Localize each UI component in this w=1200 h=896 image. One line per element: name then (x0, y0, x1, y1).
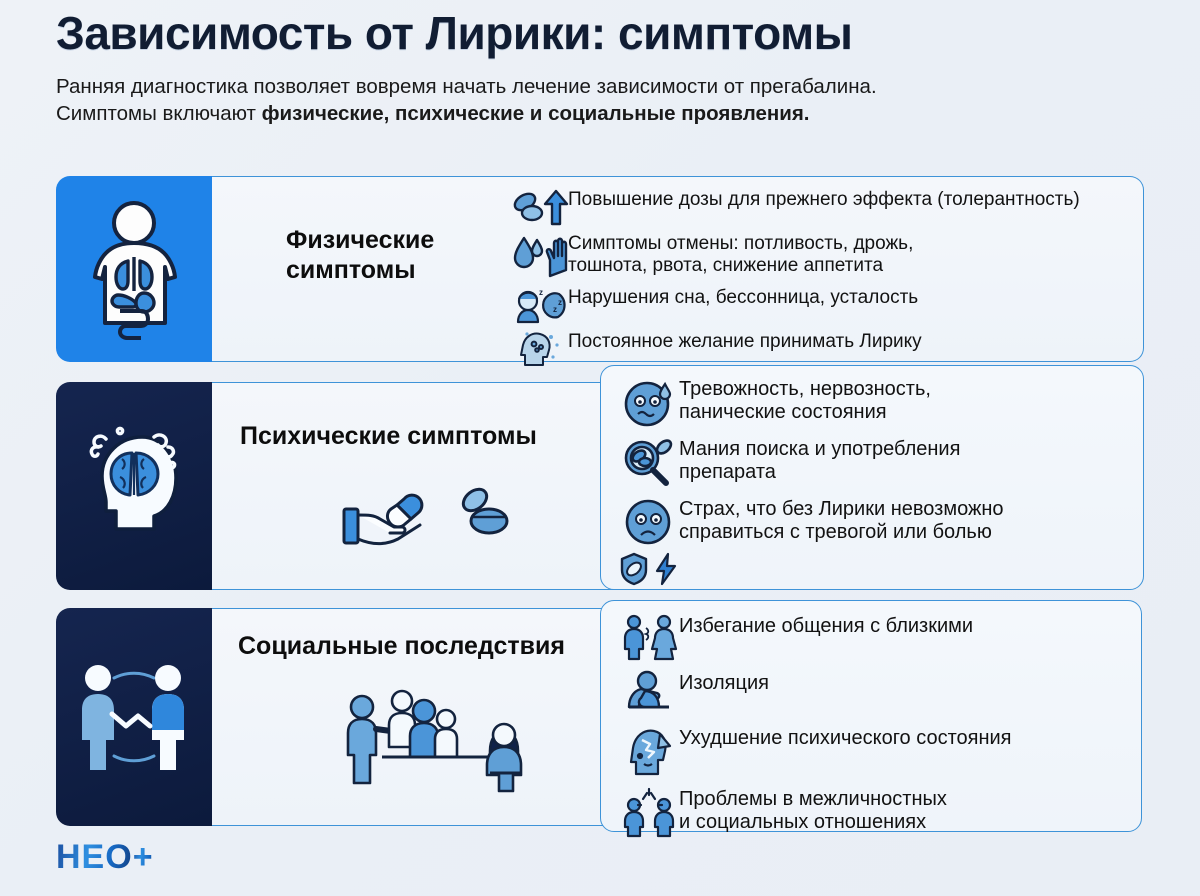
header: Зависимость от Лирики: симптомы Ранняя д… (56, 8, 1156, 128)
list-item: Проблемы в межличностных и социальных от… (619, 786, 1129, 838)
brand-logo: НЕО + (56, 838, 154, 877)
sitting-alone-icon (619, 670, 679, 716)
list-item-text-line-1: Тревожность, нервозность, (679, 378, 931, 400)
list-item-text-line-2: справиться с тревогой или болью (679, 521, 992, 543)
broken-mind-head-icon (619, 725, 679, 777)
list-item-text-line-2: панические состояния (679, 401, 887, 423)
social-bullet-panel: Избегание общения с близкими Изоляция (600, 600, 1142, 832)
list-item-text: Постоянное желание принимать Лирику (568, 329, 922, 353)
head-brain-icon (76, 421, 192, 551)
subtitle-line-2-plain: Симптомы включают (56, 102, 262, 125)
page-title: Зависимость от Лирики: симптомы (56, 8, 1156, 59)
group-of-people-icon (340, 685, 590, 795)
mental-footer-icons (617, 552, 1131, 586)
list-item-text-line-2: и социальных отношениях (679, 811, 926, 833)
physical-panel (56, 176, 212, 362)
craving-head-icon (512, 329, 568, 367)
list-item: Избегание общения с близкими (619, 613, 1129, 661)
physical-title: Физические симптомы (286, 225, 506, 285)
pills-up-arrow-icon (512, 187, 568, 227)
mental-bullet-panel: Тревожность, нервозность, панические сос… (600, 365, 1144, 590)
list-item-text: Страх, что без Лирики невозможно справит… (679, 496, 1004, 544)
card-physical-symptoms: Физические симптомы Повышени (56, 176, 1144, 362)
human-body-organs-icon (82, 199, 186, 339)
list-item: Симптомы отмены: потливость, дрожь, тошн… (512, 231, 1129, 281)
lightning-bolt-icon (655, 552, 677, 586)
conflict-people-icon (619, 786, 679, 838)
list-item-text: Нарушения сна, бессонница, усталость (568, 285, 918, 309)
subtitle-line-2-bold: физические, психические и социальные про… (262, 102, 810, 125)
list-item: Страх, что без Лирики невозможно справит… (617, 496, 1131, 548)
infographic-page: Зависимость от Лирики: симптомы Ранняя д… (0, 0, 1200, 896)
social-body: Социальные последствия (212, 608, 656, 826)
list-item: Тревожность, нервозность, панические сос… (617, 376, 1131, 430)
sleepy-face-moon-icon: zzz (512, 285, 568, 325)
list-item-text: Ухудшение психического состояния (679, 725, 1012, 750)
physical-title-line-2: симптомы (286, 256, 416, 284)
physical-bullet-list: Повышение дозы для прежнего эффекта (тол… (512, 187, 1129, 371)
anxious-face-icon (617, 376, 679, 430)
subtitle-line-1: Ранняя диагностика позволяет вовремя нач… (56, 75, 877, 98)
fearful-face-icon (617, 496, 679, 548)
list-item-text-line-1: Мания поиска и употребления (679, 438, 960, 460)
list-item-text-line-1: Симптомы отмены: потливость, дрожь, (568, 233, 913, 254)
list-item-text: Изоляция (679, 670, 769, 695)
list-item: Мания поиска и употребления препарата (617, 436, 1131, 490)
mental-title: Психические симптомы (240, 421, 537, 451)
social-panel (56, 608, 212, 826)
list-item: Изоляция (619, 670, 1129, 716)
card-mental-symptoms: Психические симптомы (56, 382, 656, 590)
avoiding-couple-icon (619, 613, 679, 661)
list-item-text: Симптомы отмены: потливость, дрожь, тошн… (568, 231, 913, 278)
list-item: Ухудшение психического состояния (619, 725, 1129, 777)
mental-body: Психические симптомы (212, 382, 656, 590)
brand-logo-plus: + (133, 838, 154, 877)
list-item: zzz Нарушения сна, бессонница, усталость (512, 285, 1129, 325)
sweat-drops-hand-icon (512, 231, 568, 281)
mental-panel (56, 382, 212, 590)
list-item-text: Избегание общения с близкими (679, 613, 973, 638)
svg-text:z: z (553, 305, 557, 314)
list-item-text-line-1: Страх, что без Лирики невозможно (679, 498, 1004, 520)
shield-pill-icon (619, 552, 649, 586)
list-item-text: Мания поиска и употребления препарата (679, 436, 960, 484)
brand-logo-text: НЕО (56, 838, 133, 877)
two-people-handshake-icon (72, 656, 196, 778)
hand-holding-pills-icon (342, 473, 572, 553)
list-item: Постоянное желание принимать Лирику (512, 329, 1129, 367)
svg-text:z: z (539, 288, 543, 297)
page-subtitle: Ранняя диагностика позволяет вовремя нач… (56, 73, 1146, 128)
list-item-text-line-1: Проблемы в межличностных (679, 788, 947, 810)
physical-title-line-1: Физические (286, 226, 434, 254)
social-title: Социальные последствия (238, 631, 565, 661)
svg-text:z: z (558, 298, 562, 307)
card-social-consequences: Социальные последствия (56, 608, 656, 826)
magnifier-pills-icon (617, 436, 679, 490)
physical-body: Физические симптомы Повышени (212, 176, 1144, 362)
list-item-text-line-2: тошнота, рвота, снижение аппетита (568, 255, 883, 276)
list-item-text: Повышение дозы для прежнего эффекта (тол… (568, 187, 1080, 211)
list-item: Повышение дозы для прежнего эффекта (тол… (512, 187, 1129, 227)
list-item-text: Тревожность, нервозность, панические сос… (679, 376, 931, 424)
list-item-text-line-2: препарата (679, 461, 776, 483)
list-item-text: Проблемы в межличностных и социальных от… (679, 786, 947, 834)
